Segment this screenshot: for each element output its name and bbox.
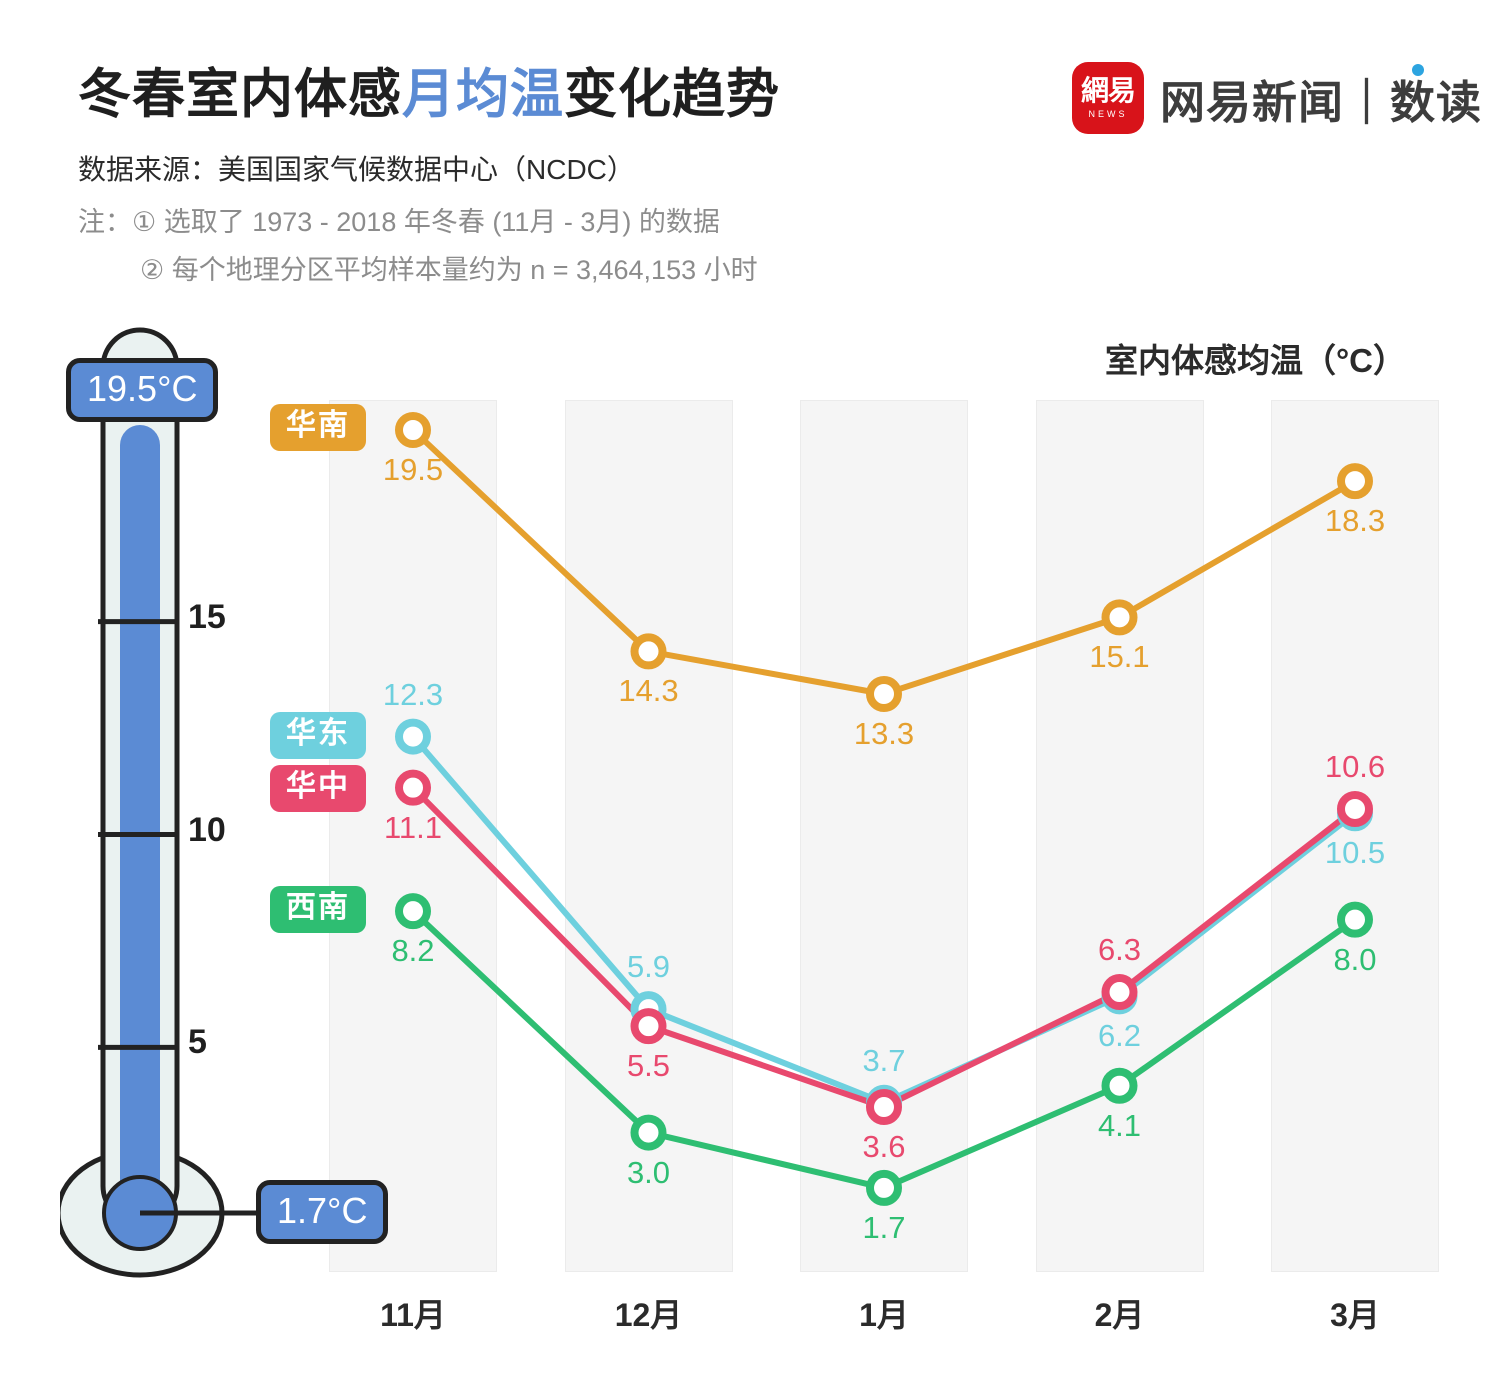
data-label: 4.1 — [1098, 1108, 1141, 1144]
data-point-marker[interactable] — [635, 1119, 663, 1147]
data-label: 3.6 — [862, 1129, 905, 1165]
data-label: 13.3 — [854, 716, 914, 752]
data-point-marker[interactable] — [399, 416, 427, 444]
data-label: 19.5 — [383, 452, 443, 488]
thermometer-mercury — [120, 425, 160, 1221]
data-point-marker[interactable] — [870, 680, 898, 708]
x-axis-label: 2月 — [1040, 1290, 1200, 1336]
data-label: 10.5 — [1325, 835, 1385, 871]
thermometer-tick-label: 5 — [188, 1023, 207, 1062]
thermometer-tick-label: 10 — [188, 811, 226, 850]
thermometer-tick-label: 15 — [188, 598, 226, 637]
data-point-marker[interactable] — [870, 1174, 898, 1202]
data-label: 3.7 — [862, 1043, 905, 1079]
data-label: 8.0 — [1333, 942, 1376, 978]
data-point-marker[interactable] — [1341, 795, 1369, 823]
data-point-marker[interactable] — [1341, 906, 1369, 934]
data-label: 8.2 — [391, 933, 434, 969]
data-point-marker[interactable] — [399, 774, 427, 802]
data-label: 5.5 — [627, 1048, 670, 1084]
chart-area: 室内体感均温（°C） 19.514.313.315.118.312.35.93.… — [0, 0, 1501, 1374]
data-point-marker[interactable] — [1106, 603, 1134, 631]
data-label: 14.3 — [618, 673, 678, 709]
data-label: 6.2 — [1098, 1018, 1141, 1054]
data-label: 5.9 — [627, 949, 670, 985]
data-label: 15.1 — [1089, 639, 1149, 675]
data-label: 10.6 — [1325, 749, 1385, 785]
data-point-marker[interactable] — [635, 1012, 663, 1040]
data-label: 1.7 — [862, 1210, 905, 1246]
data-point-marker[interactable] — [1106, 978, 1134, 1006]
data-point-marker[interactable] — [635, 637, 663, 665]
data-label: 18.3 — [1325, 503, 1385, 539]
thermometer-max-badge: 19.5°C — [66, 358, 218, 422]
data-point-marker[interactable] — [870, 1093, 898, 1121]
x-axis-label: 1月 — [804, 1290, 964, 1336]
data-label: 11.1 — [384, 810, 442, 846]
x-axis-label: 3月 — [1275, 1290, 1435, 1336]
data-point-marker[interactable] — [399, 897, 427, 925]
thermometer-min-badge: 1.7°C — [256, 1180, 388, 1244]
data-label: 6.3 — [1098, 932, 1141, 968]
data-label: 12.3 — [383, 677, 443, 713]
data-point-marker[interactable] — [1106, 1072, 1134, 1100]
data-point-marker[interactable] — [1341, 467, 1369, 495]
data-point-marker[interactable] — [399, 723, 427, 751]
x-axis-label: 12月 — [569, 1290, 729, 1336]
data-label: 3.0 — [627, 1155, 670, 1191]
